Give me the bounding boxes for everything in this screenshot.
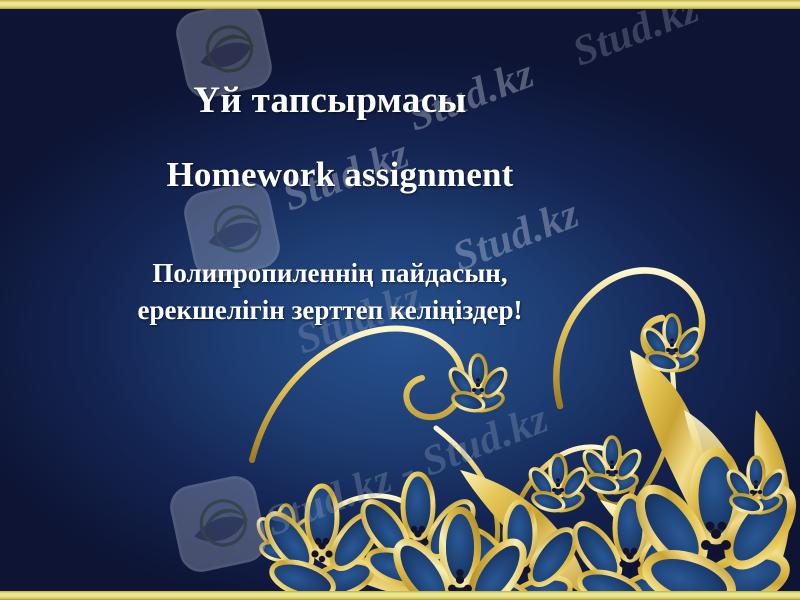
golden-floral-ornament [160,170,800,600]
stud-kz-bird-logo [163,469,272,578]
watermark-text: Stud.kz [289,273,428,365]
bottom-gold-bar [0,591,800,600]
body-line: Полипропиленнің пайдасын, [0,255,660,292]
watermark-text: Stud.kz [566,0,705,76]
stud-kz-bird-logo [169,0,278,105]
slide-body-text: Полипропиленнің пайдасын, ерекшелігін зе… [0,255,660,330]
watermark-text: Stud.kz [276,130,415,222]
slide-title-kazakh: Үй тапсырмасы [0,79,660,122]
body-line: ерекшелігін зерттеп келіңіздер! [0,292,660,329]
watermark-text: Stud.kz [446,190,585,282]
presentation-slide: Stud.kz Stud.kz Stud.kz Stud.kz Stud.kz … [0,0,800,600]
watermark-text: Stud.kz [401,50,540,142]
top-gold-bar [0,0,800,9]
watermark-text-pair: Stud.kz - Stud.kz [259,395,554,547]
watermark-layer: Stud.kz Stud.kz Stud.kz Stud.kz Stud.kz … [0,0,800,600]
stud-kz-bird-logo [177,175,286,284]
slide-content: Үй тапсырмасы Homework assignment Полипр… [0,0,800,600]
slide-title-english: Homework assignment [0,155,680,195]
